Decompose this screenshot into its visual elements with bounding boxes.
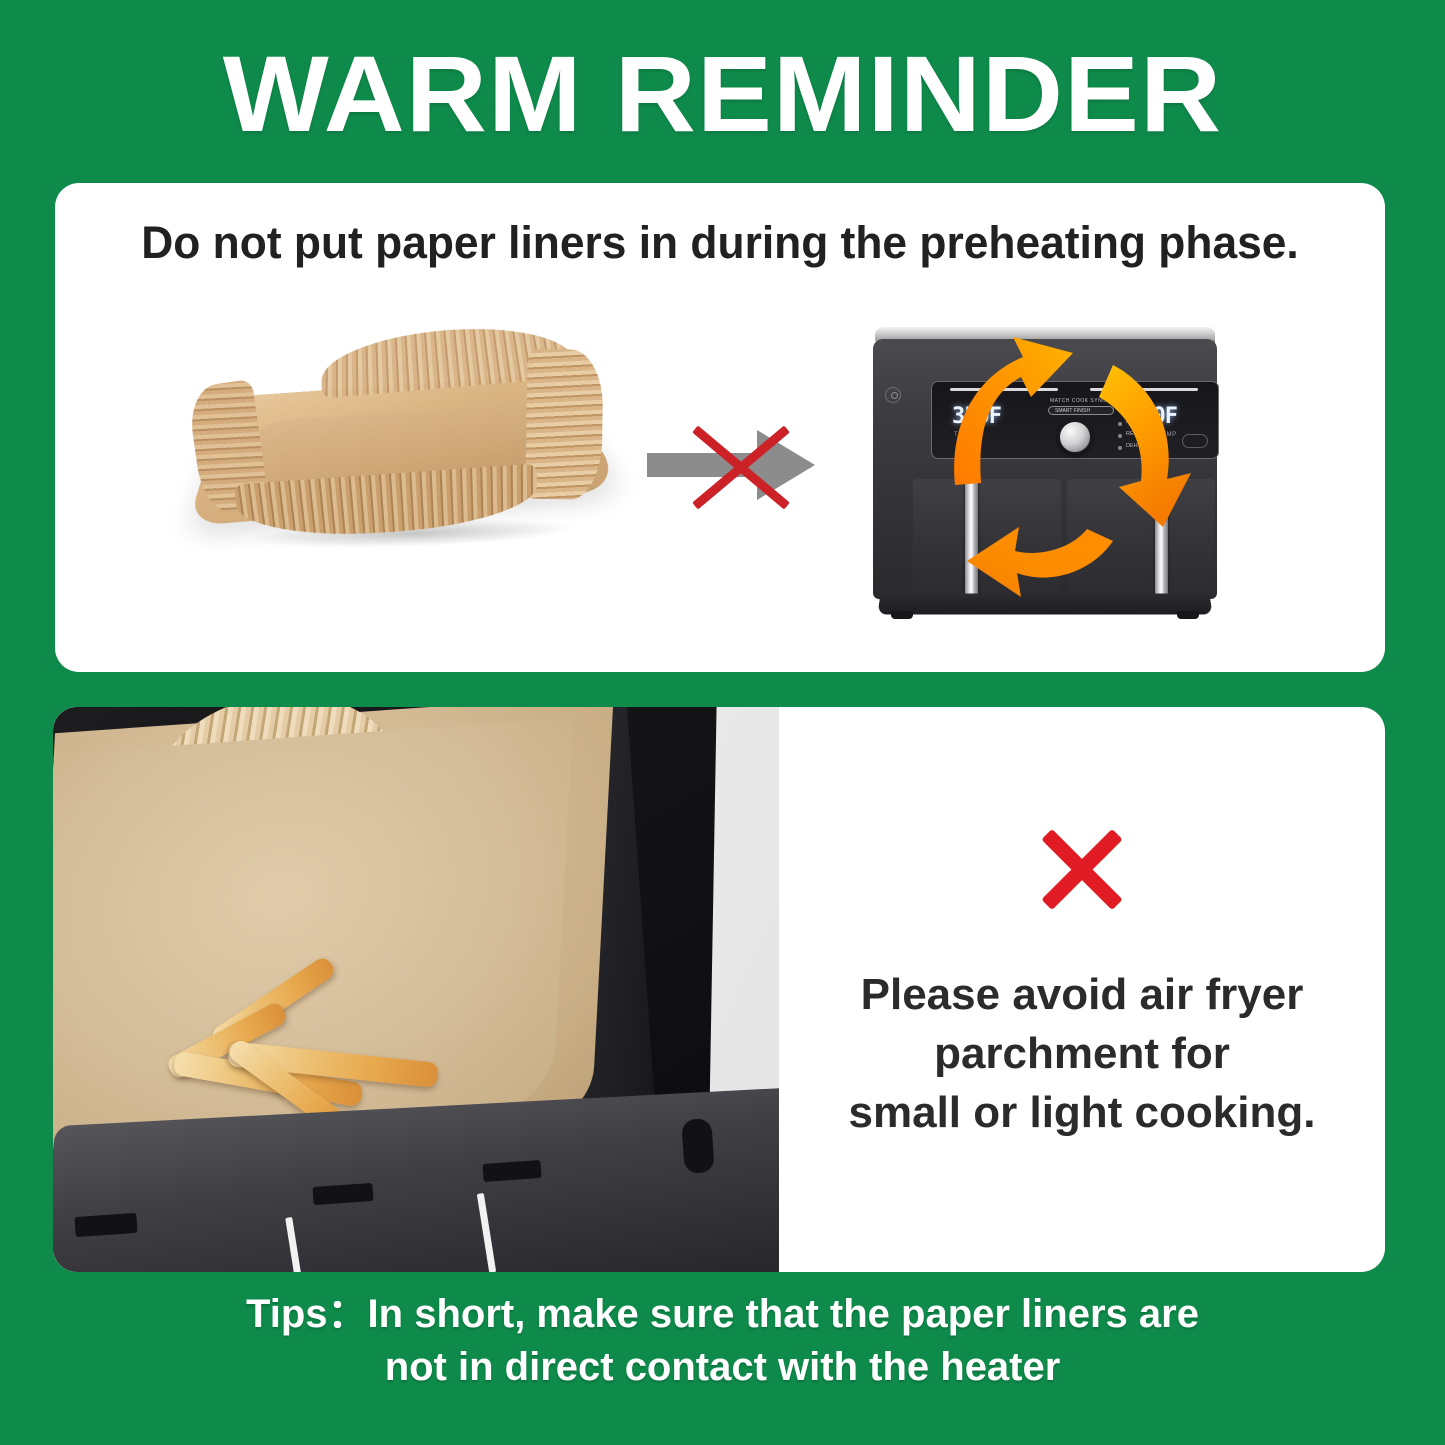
paper-liner-graphic <box>171 317 629 573</box>
page-title: WARM REMINDER <box>223 40 1222 148</box>
paper-liner-stack-illustration <box>175 325 625 575</box>
airflow-arrows-icon <box>845 305 1245 635</box>
forbidden-arrow <box>645 405 835 525</box>
card-avoid-light-cooking: Please avoid air fryer parchment for sma… <box>53 707 1385 1272</box>
avoid-message-block: Please avoid air fryer parchment for sma… <box>779 707 1385 1272</box>
basket-parchment-photo <box>53 707 779 1272</box>
card-preheating-illustration-row: 350F 400F TIME TEMP MATCH COOK SYNC FINI… <box>55 295 1385 665</box>
avoid-line-3: small or light cooking. <box>779 1083 1385 1142</box>
avoid-line-1: Please avoid air fryer <box>779 965 1385 1024</box>
footer-tips-line-2: not in direct contact with the heater <box>0 1341 1445 1394</box>
page-title-bar: WARM REMINDER <box>0 34 1445 154</box>
footer-tips: Tips：In short, make sure that the paper … <box>0 1288 1445 1394</box>
card-preheating-heading: Do not put paper liners in during the pr… <box>65 217 1375 269</box>
air-fryer-illustration: 350F 400F TIME TEMP MATCH COOK SYNC FINI… <box>845 305 1245 635</box>
avoid-line-2: parchment for <box>779 1024 1385 1083</box>
basket-handle-slot <box>681 1118 715 1174</box>
card-preheating: Do not put paper liners in during the pr… <box>55 183 1385 672</box>
red-x-icon <box>1032 819 1132 919</box>
footer-tips-line-1: Tips：In short, make sure that the paper … <box>0 1288 1445 1341</box>
avoid-message-lines: Please avoid air fryer parchment for sma… <box>779 965 1385 1142</box>
